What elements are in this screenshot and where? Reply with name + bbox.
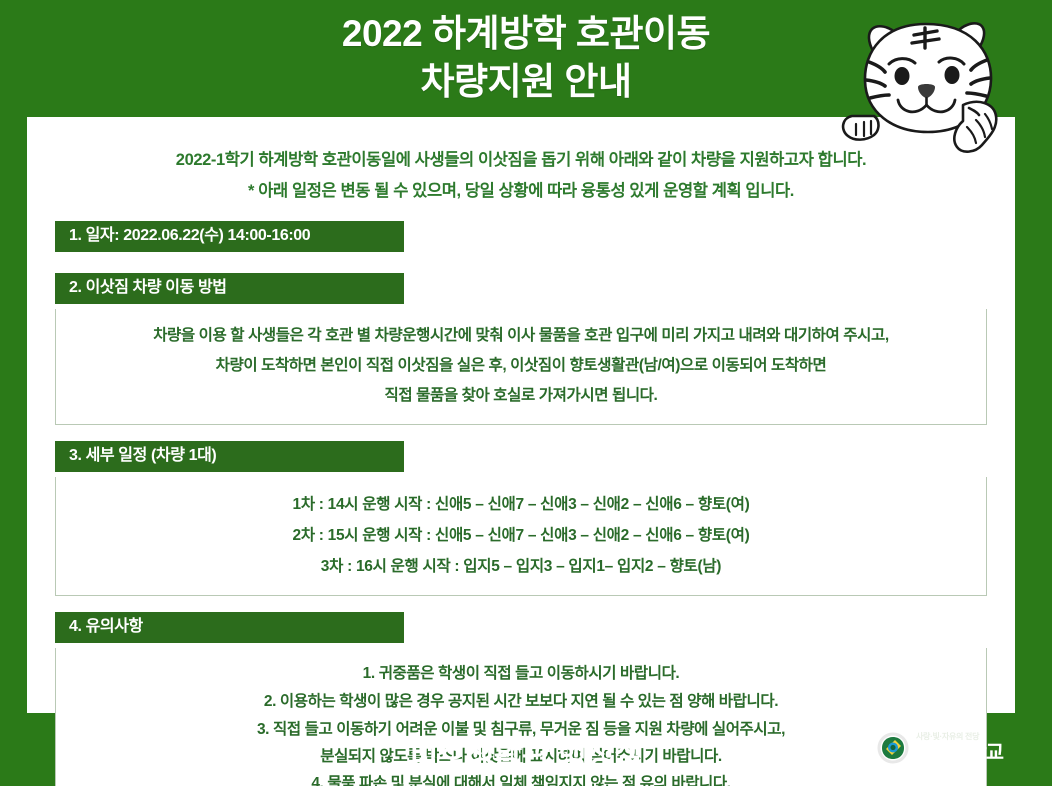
- logo-university-name: 대구대학교: [916, 743, 1003, 763]
- section-date-heading: 1. 일자: 2022.06.22(수) 14:00-16:00: [55, 221, 404, 252]
- notice-item-1: 1. 귀중품은 학생이 직접 들고 이동하시기 바랍니다.: [72, 660, 970, 688]
- notice-item-2: 2. 이용하는 학생이 많은 경우 공지된 시간 보보다 지연 될 수 있는 점…: [72, 688, 970, 716]
- method-line-1: 차량을 이용 할 사생들은 각 호관 별 차량운행시간에 맞춰 이사 물품을 호…: [72, 321, 970, 351]
- content-card: 2022-1학기 하계방학 호관이동일에 사생들의 이삿짐을 돕기 위해 아래와…: [27, 117, 1015, 713]
- schedule-trip-2: 2차 : 15시 운행 시작 : 신애5 – 신애7 – 신애3 – 신애2 –…: [72, 520, 970, 551]
- poster-footer: 비호생활관 행정실 사랑·빛·자유의 전당 대구대학교: [0, 713, 1052, 786]
- intro-line-2: * 아래 일정은 변동 될 수 있으며, 당일 상황에 따라 융통성 있게 운영…: [67, 176, 975, 207]
- white-tiger-mascot-icon: [836, 4, 1046, 164]
- section-notices-heading: 4. 유의사항: [55, 612, 404, 643]
- university-logo: 사랑·빛·자유의 전당 대구대학교: [876, 731, 1003, 765]
- section-schedule-heading: 3. 세부 일정 (차량 1대): [55, 441, 404, 472]
- section-schedule: 3. 세부 일정 (차량 1대) 1차 : 14시 운행 시작 : 신애5 – …: [55, 441, 987, 596]
- section-date: 1. 일자: 2022.06.22(수) 14:00-16:00: [55, 221, 987, 257]
- schedule-trip-3: 3차 : 16시 운행 시작 : 입지5 – 입지3 – 입지1– 입지2 – …: [72, 551, 970, 582]
- schedule-trip-1: 1차 : 14시 운행 시작 : 신애5 – 신애7 – 신애3 – 신애2 –…: [72, 489, 970, 520]
- section-schedule-box: 1차 : 14시 운행 시작 : 신애5 – 신애7 – 신애3 – 신애2 –…: [55, 477, 987, 596]
- section-method-heading: 2. 이삿짐 차량 이동 방법: [55, 273, 404, 304]
- method-line-2: 차량이 도착하면 본인이 직접 이삿짐을 실은 후, 이삿짐이 향토생활관(남/…: [72, 351, 970, 381]
- poster-root: 2022 하계방학 호관이동 차량지원 안내: [0, 0, 1052, 786]
- daegu-university-emblem-icon: [876, 731, 910, 765]
- section-method: 2. 이삿짐 차량 이동 방법 차량을 이용 할 사생들은 각 호관 별 차량운…: [55, 273, 987, 425]
- section-method-box: 차량을 이용 할 사생들은 각 호관 별 차량운행시간에 맞춰 이사 물품을 호…: [55, 309, 987, 425]
- logo-tagline: 사랑·빛·자유의 전당: [916, 733, 1003, 741]
- method-line-3: 직접 물품을 찾아 호실로 가져가시면 됩니다.: [72, 381, 970, 411]
